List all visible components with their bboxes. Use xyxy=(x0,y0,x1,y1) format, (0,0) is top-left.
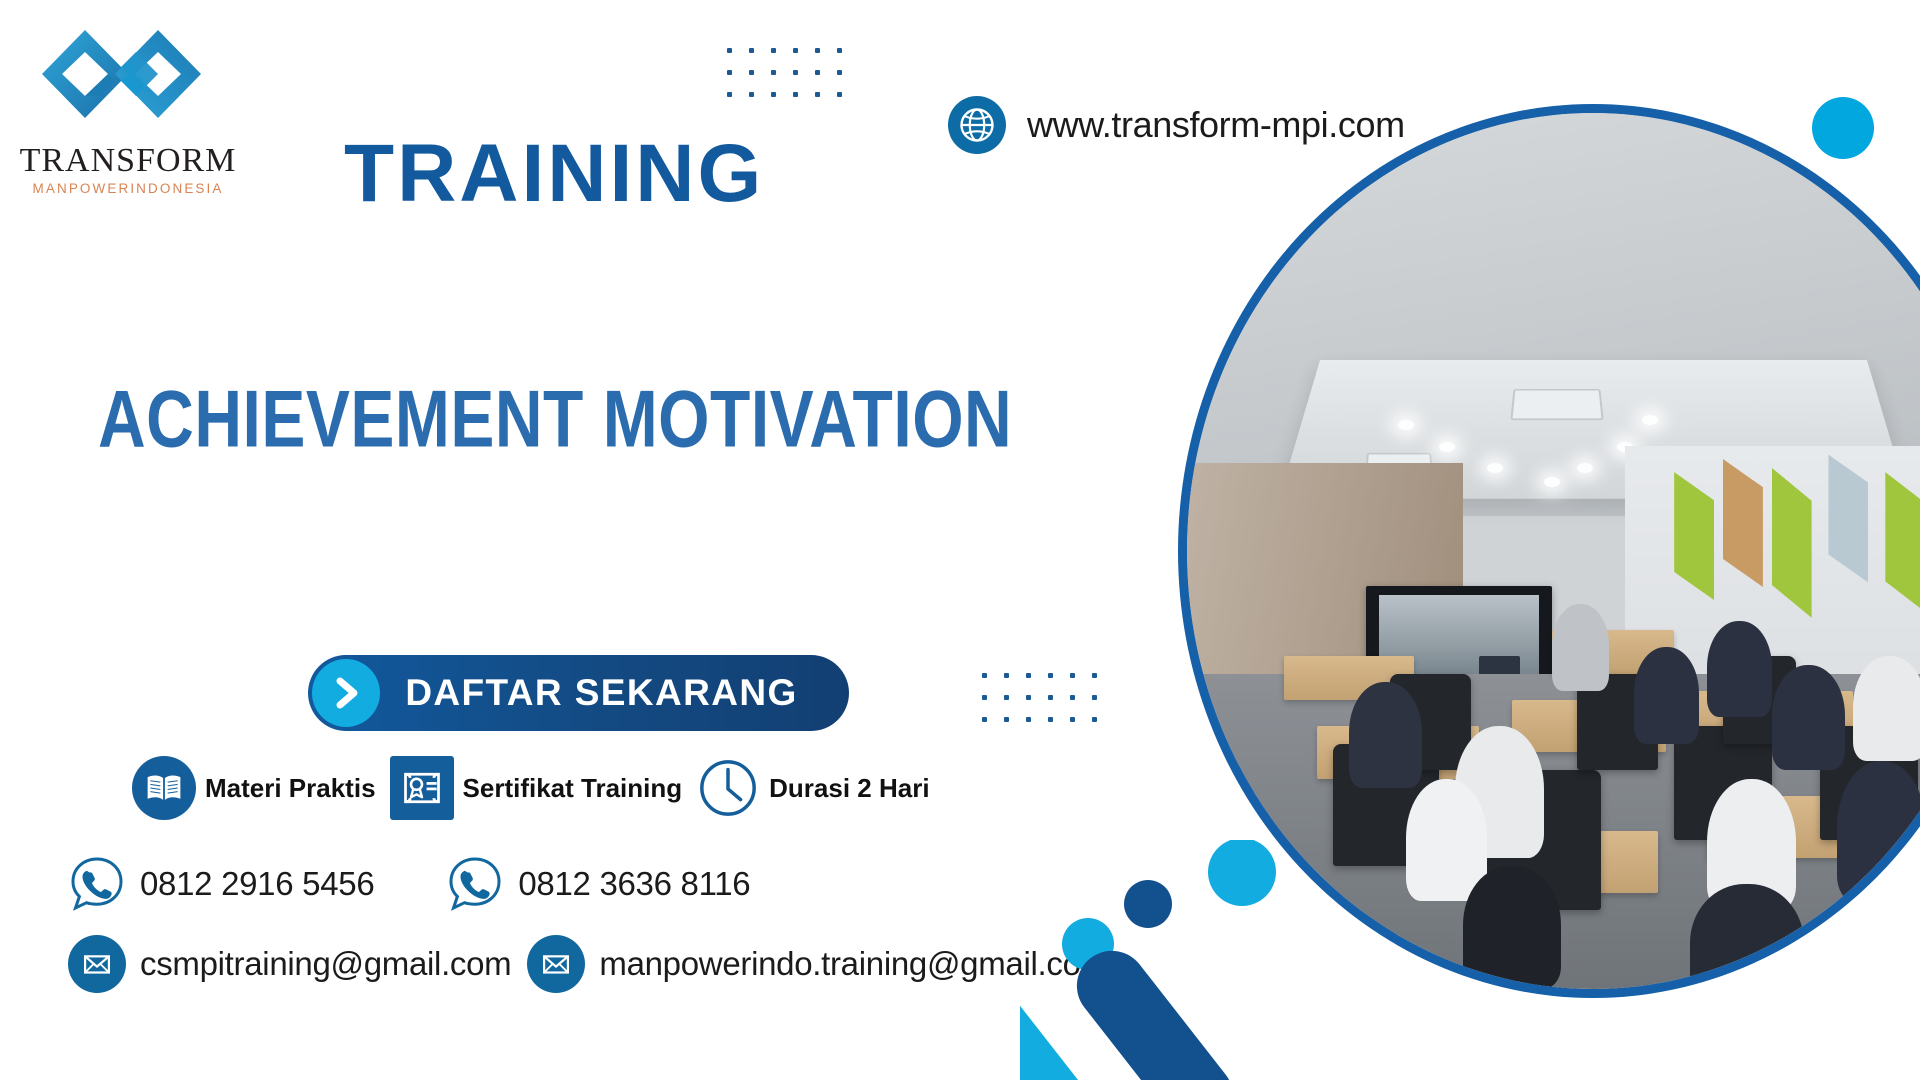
dot-grid-decoration-top xyxy=(727,48,842,97)
phone-contact-2[interactable]: 0812 3636 8116 xyxy=(446,855,750,913)
certificate-icon xyxy=(390,756,454,820)
register-now-button[interactable]: DAFTAR SEKARANG xyxy=(308,655,849,731)
brand-tagline: MANPOWERINDONESIA xyxy=(18,182,238,196)
brand-name: TRANSFORM xyxy=(18,144,238,178)
register-now-label: DAFTAR SEKARANG xyxy=(380,672,849,714)
chevron-right-icon xyxy=(312,659,380,727)
email-contact-1[interactable]: csmpitraining@gmail.com xyxy=(68,935,511,993)
feature-label: Sertifikat Training xyxy=(463,773,683,804)
cyan-circle-decoration xyxy=(1812,97,1874,159)
interlocking-diamonds-logo-icon xyxy=(40,22,210,142)
whatsapp-icon xyxy=(446,855,504,913)
phone-number: 0812 2916 5456 xyxy=(140,865,374,903)
abstract-people-decoration xyxy=(1020,840,1300,1080)
dot-grid-decoration-middle xyxy=(982,673,1097,722)
page-title: ACHIEVEMENT MOTIVATION xyxy=(98,378,1012,459)
feature-list: Materi Praktis Sertifikat Training xyxy=(132,756,930,820)
eyebrow-heading: TRAINING xyxy=(344,133,764,215)
feature-item-materi-praktis: Materi Praktis xyxy=(132,756,376,820)
feature-label: Durasi 2 Hari xyxy=(769,773,929,804)
envelope-icon xyxy=(68,935,126,993)
clock-icon xyxy=(696,756,760,820)
phone-contacts: 0812 2916 5456 0812 3636 8116 xyxy=(68,855,750,913)
envelope-icon xyxy=(527,935,585,993)
feature-label: Materi Praktis xyxy=(205,773,376,804)
feature-item-durasi-2-hari: Durasi 2 Hari xyxy=(696,756,929,820)
training-flyer: TRANSFORM MANPOWERINDONESIA www.transfor… xyxy=(0,0,1920,1080)
email-address: csmpitraining@gmail.com xyxy=(140,945,511,983)
phone-contact-1[interactable]: 0812 2916 5456 xyxy=(68,855,374,913)
feature-item-sertifikat-training: Sertifikat Training xyxy=(390,756,683,820)
brand-logo[interactable]: TRANSFORM MANPOWERINDONESIA xyxy=(18,22,238,202)
globe-icon xyxy=(948,96,1006,154)
whatsapp-icon xyxy=(68,855,126,913)
phone-number: 0812 3636 8116 xyxy=(518,865,750,903)
open-book-icon xyxy=(132,756,196,820)
email-contacts: csmpitraining@gmail.com manpowerindo.tra… xyxy=(68,935,1108,993)
